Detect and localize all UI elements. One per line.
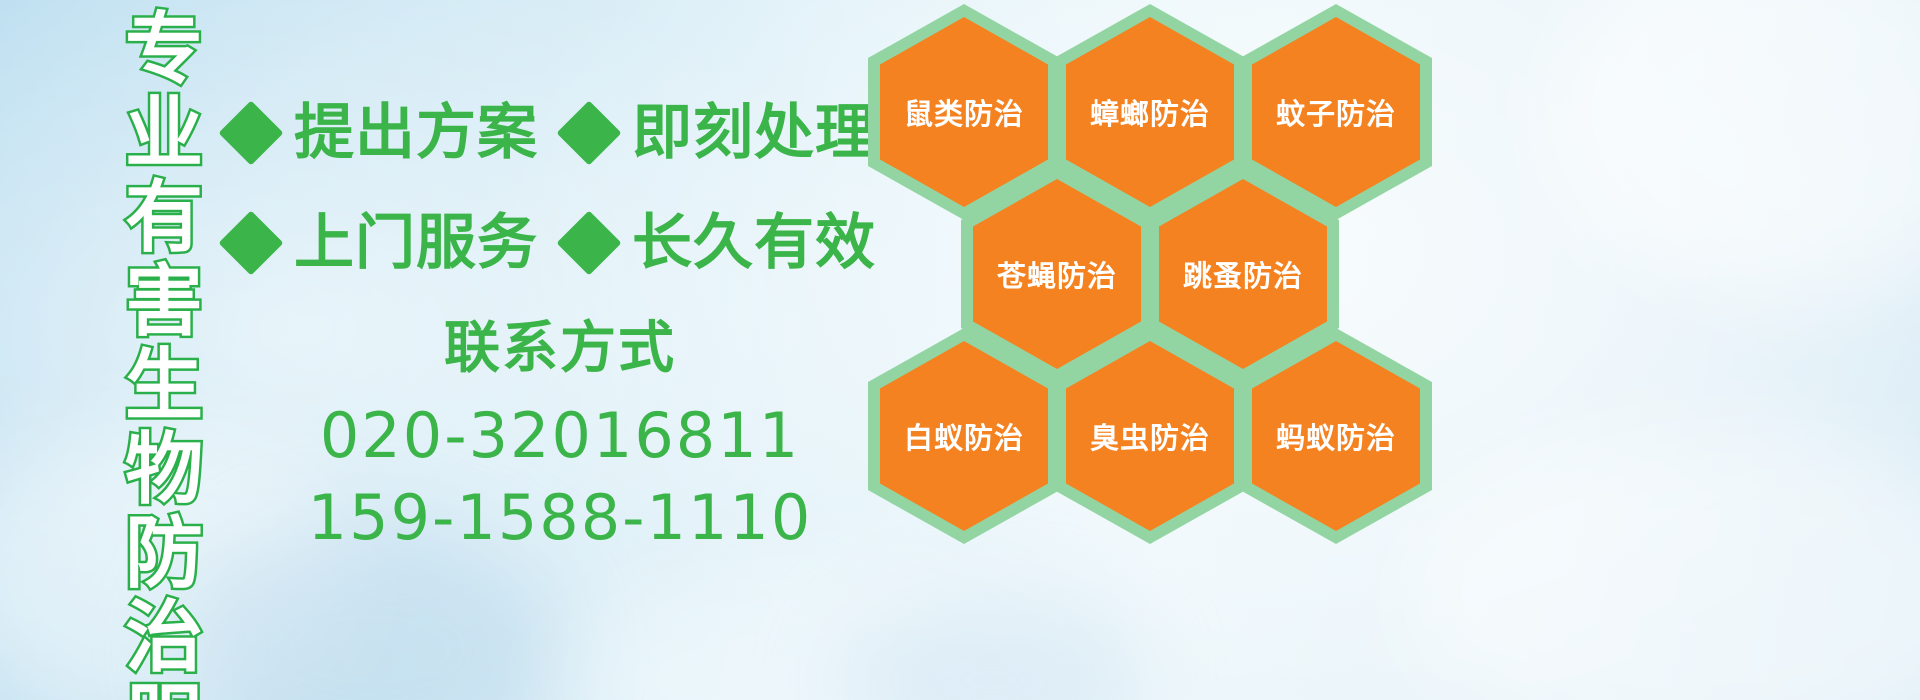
vertical-headline-char: 害 — [125, 260, 203, 344]
service-honeycomb: 鼠类防治 蟑螂防治 蚊子防治 苍蝇防治 跳蚤防治 白蚁防 — [860, 0, 1480, 700]
hex-inner: 蚊子防治 — [1252, 17, 1420, 207]
vertical-headline-char: 防 — [125, 512, 203, 596]
contact-heading: 联系方式 — [300, 318, 820, 381]
vertical-headline: 专 业 有 害 生 物 防 治 服 务 — [108, 8, 220, 694]
hex-inner: 苍蝇防治 — [973, 179, 1141, 369]
phone-number-mobile[interactable]: 159-1588-1110 — [300, 477, 820, 559]
contact-block: 联系方式 020-32016811 159-1588-1110 — [300, 318, 820, 558]
feature-label: 长久有效 — [632, 213, 876, 273]
vertical-headline-char: 物 — [125, 428, 203, 512]
service-label: 蚊子防治 — [1276, 91, 1396, 133]
service-label: 蚂蚁防治 — [1276, 415, 1396, 457]
service-label: 蟑螂防治 — [1090, 91, 1210, 133]
vertical-headline-char: 有 — [125, 176, 203, 260]
hex-inner: 鼠类防治 — [880, 17, 1048, 207]
feature-item-immediate-handling: 即刻处理 — [566, 103, 876, 163]
service-label: 臭虫防治 — [1090, 415, 1210, 457]
feature-label: 即刻处理 — [632, 103, 876, 163]
vertical-headline-char: 专 — [125, 8, 203, 92]
feature-row: 提出方案 即刻处理 — [228, 78, 868, 188]
feature-item-propose-plan: 提出方案 — [228, 103, 538, 163]
service-label: 鼠类防治 — [904, 91, 1024, 133]
feature-list: 提出方案 即刻处理 上门服务 长久有效 — [228, 78, 868, 298]
phone-number-landline[interactable]: 020-32016811 — [300, 395, 820, 477]
hex-inner: 臭虫防治 — [1066, 341, 1234, 531]
service-label: 苍蝇防治 — [997, 253, 1117, 295]
vertical-headline-char: 业 — [125, 92, 203, 176]
hex-inner: 跳蚤防治 — [1159, 179, 1327, 369]
feature-item-long-lasting: 长久有效 — [566, 213, 876, 273]
feature-label: 上门服务 — [294, 213, 538, 273]
promotional-banner: 专 业 有 害 生 物 防 治 服 务 提出方案 即刻处理 上门服务 — [0, 0, 1920, 700]
feature-row: 上门服务 长久有效 — [228, 188, 868, 298]
diamond-icon — [218, 100, 283, 165]
service-label: 白蚁防治 — [904, 415, 1024, 457]
hex-inner: 白蚁防治 — [880, 341, 1048, 531]
vertical-headline-char: 服 — [125, 680, 203, 700]
diamond-icon — [218, 210, 283, 275]
hex-inner: 蚂蚁防治 — [1252, 341, 1420, 531]
service-label: 跳蚤防治 — [1183, 253, 1303, 295]
vertical-headline-char: 治 — [125, 596, 203, 680]
feature-item-door-service: 上门服务 — [228, 213, 538, 273]
background-glow-e — [1550, 0, 1920, 300]
vertical-headline-char: 生 — [125, 344, 203, 428]
hex-inner: 蟑螂防治 — [1066, 17, 1234, 207]
diamond-icon — [556, 100, 621, 165]
feature-label: 提出方案 — [294, 103, 538, 163]
diamond-icon — [556, 210, 621, 275]
